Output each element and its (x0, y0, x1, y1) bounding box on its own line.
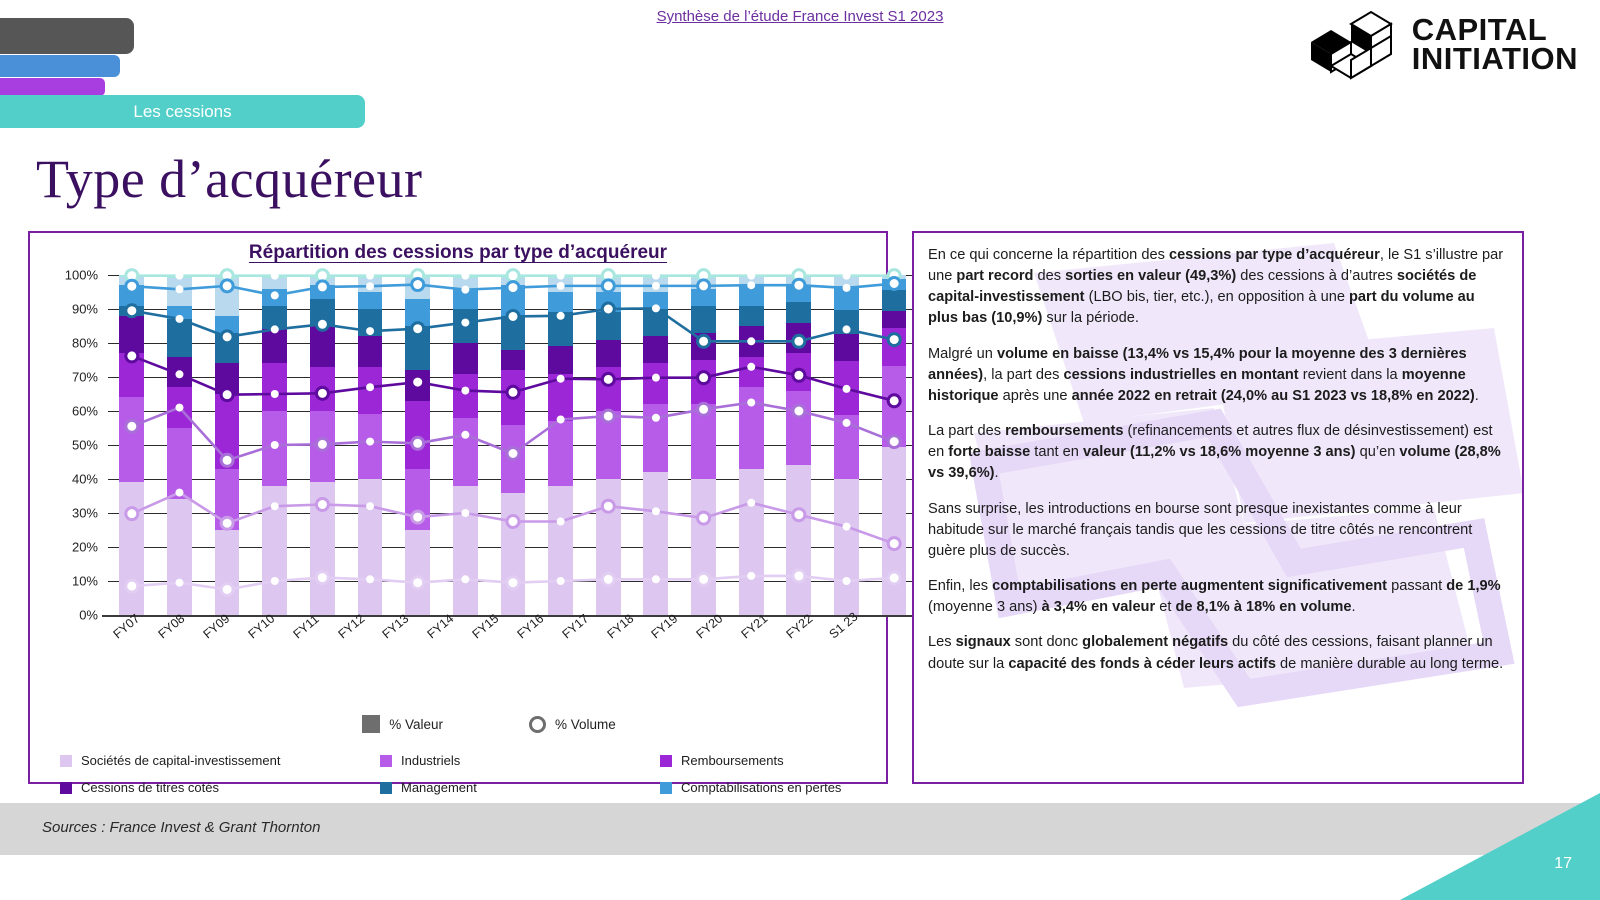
volume-marker (698, 280, 710, 292)
legend-label: Remboursements (681, 753, 784, 768)
body-text: Malgré un (928, 346, 997, 362)
volume-marker (888, 436, 900, 448)
legend-item[interactable]: Sociétés de capital-investissement (60, 753, 380, 768)
legend-swatch (60, 782, 72, 794)
commentary-paragraph: La part des remboursements (refinancemen… (928, 421, 1508, 484)
legend-swatch (380, 782, 392, 794)
volume-marker (698, 335, 710, 347)
emphasis-text: globalement négatifs (1082, 634, 1228, 650)
volume-marker (793, 509, 805, 521)
x-label-slot: FY16 (511, 623, 556, 643)
cube-logo-icon (1308, 8, 1398, 80)
volume-marker (557, 312, 565, 320)
y-axis-tick-label: 10% (72, 574, 98, 589)
volume-marker (652, 282, 660, 290)
volume-marker (461, 272, 469, 280)
volume-marker (126, 280, 138, 292)
body-text: sur la période. (1042, 310, 1139, 326)
x-label-slot: FY15 (467, 623, 512, 643)
x-label-slot: FY19 (646, 623, 691, 643)
volume-marker (461, 387, 469, 395)
body-text: . (1351, 599, 1355, 615)
volume-marker (888, 395, 900, 407)
emphasis-text: capacité des fonds à céder leurs actifs (1008, 656, 1276, 672)
volume-marker (271, 325, 279, 333)
volume-marker (747, 272, 755, 280)
body-text: . (1475, 388, 1479, 404)
legend-item[interactable]: Cessions de titres cotés (60, 780, 380, 795)
marker-legend: % Valeur% Volume (108, 715, 870, 733)
x-label-slot: FY20 (691, 623, 736, 643)
volume-marker (793, 570, 805, 582)
volume-marker (175, 370, 183, 378)
body-text: tant en (1030, 444, 1083, 460)
legend-swatch (660, 782, 672, 794)
body-text: sont donc (1011, 634, 1082, 650)
volume-marker (507, 282, 519, 294)
legend-label: Management (401, 780, 477, 795)
x-label-slot: FY08 (153, 623, 198, 643)
volume-marker (271, 390, 279, 398)
emphasis-text: signaux (956, 634, 1011, 650)
body-text: après une (999, 388, 1072, 404)
volume-marker (602, 280, 614, 292)
volume-marker (271, 291, 279, 299)
volume-marker (271, 441, 279, 449)
volume-marker (271, 502, 279, 510)
y-axis-tick-label: 50% (72, 438, 98, 453)
body-text: . (995, 465, 999, 481)
volume-marker (602, 410, 614, 422)
volume-circle-icon (529, 716, 546, 733)
emphasis-text: à 3,4% en valeur (1042, 599, 1156, 615)
volume-marker (843, 419, 851, 427)
emphasis-text: cessions industrielles en montant (1063, 367, 1298, 383)
emphasis-text: part record (956, 268, 1033, 284)
section-tag-banner: Les cessions (0, 95, 365, 128)
volume-marker (366, 438, 374, 446)
volume-marker (793, 279, 805, 291)
volume-marker (126, 508, 138, 520)
y-axis-tick-label: 80% (72, 336, 98, 351)
volume-marker (316, 499, 328, 511)
volume-marker (126, 350, 138, 362)
commentary-panel: En ce qui concerne la répartition des ce… (912, 231, 1524, 784)
volume-marker (557, 577, 565, 585)
y-axis-tick-label: 20% (72, 540, 98, 555)
volume-marker (602, 303, 614, 315)
deco-bar-purple (0, 78, 105, 96)
emphasis-text: remboursements (1005, 423, 1123, 439)
value-square-icon (362, 715, 380, 733)
volume-marker (843, 272, 851, 280)
volume-marker (507, 516, 519, 528)
x-label-slot: FY10 (242, 623, 287, 643)
y-axis-tick-label: 70% (72, 370, 98, 385)
emphasis-text: valeur (11,2% vs 18,6% moyenne 3 ans) (1083, 444, 1356, 460)
body-text: passant (1387, 578, 1446, 594)
volume-marker (175, 404, 183, 412)
volume-marker (843, 325, 851, 333)
body-text: En ce qui concerne la répartition des (928, 247, 1169, 263)
legend-label: Industriels (401, 753, 460, 768)
chart-title: Répartition des cessions par type d’acqu… (30, 242, 886, 264)
body-text: des cessions à d’autres (1236, 268, 1397, 284)
body-text: , la part des (983, 367, 1063, 383)
volume-marker (747, 363, 755, 371)
emphasis-text: forte baisse (948, 444, 1030, 460)
volume-marker (175, 315, 183, 323)
volume-marker (461, 575, 469, 583)
x-label-slot: FY14 (422, 623, 467, 643)
volume-marker (602, 500, 614, 512)
volume-marker (175, 579, 183, 587)
legend-label: Comptabilisations en pertes (681, 780, 841, 795)
commentary-paragraph: En ce qui concerne la répartition des ce… (928, 245, 1508, 330)
marker-legend-label: % Volume (555, 717, 616, 732)
volume-marker (461, 319, 469, 327)
volume-marker (412, 279, 424, 291)
commentary-paragraph: Malgré un volume en baisse (13,4% vs 15,… (928, 344, 1508, 407)
volume-marker (843, 385, 851, 393)
volume-marker (126, 420, 138, 432)
volume-marker (652, 272, 660, 280)
volume-marker (271, 577, 279, 585)
legend-item[interactable]: Industriels (380, 753, 660, 768)
volume-marker (652, 414, 660, 422)
volume-marker (316, 438, 328, 450)
volume-marker (557, 272, 565, 280)
volume-marker (175, 285, 183, 293)
x-label-slot: S1 23 (825, 623, 870, 643)
x-label-slot: FY18 (601, 623, 646, 643)
volume-marker (843, 284, 851, 292)
volume-marker (747, 399, 755, 407)
volume-marker (747, 337, 755, 345)
x-label-slot: FY09 (198, 623, 243, 643)
marker-legend-label: % Valeur (389, 717, 443, 732)
commentary-text: En ce qui concerne la répartition des ce… (914, 233, 1522, 675)
volume-marker (652, 304, 660, 312)
body-text: et (1155, 599, 1175, 615)
volume-marker (507, 310, 519, 322)
emphasis-text: sorties en valeur (49,3%) (1065, 268, 1236, 284)
body-text: revient dans la (1299, 367, 1402, 383)
volume-marker (126, 305, 138, 317)
volume-marker (412, 323, 424, 335)
volume-marker (652, 575, 660, 583)
volume-marker (366, 383, 374, 391)
legend-item[interactable]: Management (380, 780, 660, 795)
volume-marker (366, 575, 374, 583)
volume-marker (221, 389, 233, 401)
volume-marker (843, 523, 851, 531)
volume-marker (126, 580, 138, 592)
volume-marker (793, 405, 805, 417)
volume-marker (461, 509, 469, 517)
volume-marker (698, 403, 710, 415)
legend-swatch (60, 755, 72, 767)
volume-marker (221, 584, 233, 596)
commentary-paragraph: Enfin, les comptabilisations en perte au… (928, 576, 1508, 618)
deco-bar-blue (0, 55, 120, 77)
y-axis-tick-label: 0% (79, 608, 98, 623)
volume-marker (271, 272, 279, 280)
volume-marker (412, 577, 424, 589)
volume-marker (366, 327, 374, 335)
emphasis-text: année 2022 en retrait (24,0% au S1 2023 … (1072, 388, 1475, 404)
legend-label: Sociétés de capital-investissement (81, 753, 280, 768)
emphasis-text: comptabilisations en perte augmentent si… (992, 578, 1387, 594)
volume-marker (461, 286, 469, 294)
body-text: Enfin, les (928, 578, 992, 594)
volume-marker (888, 278, 900, 290)
volume-marker (366, 282, 374, 290)
body-text: (LBO bis, tier, etc.), en opposition à u… (1085, 289, 1349, 305)
sources-label: Sources : France Invest & Grant Thornton (42, 819, 320, 836)
body-text: qu’en (1356, 444, 1400, 460)
volume-marker (747, 572, 755, 580)
x-label-slot: FY21 (736, 623, 781, 643)
volume-marker (366, 272, 374, 280)
commentary-paragraph: Sans surprise, les introductions en bour… (928, 499, 1508, 562)
volume-marker (793, 369, 805, 381)
y-axis-tick-label: 90% (72, 302, 98, 317)
page-title: Type d’acquéreur (36, 148, 423, 210)
volume-marker (366, 502, 374, 510)
emphasis-text: de 8,1% à 18% en volume (1175, 599, 1351, 615)
volume-marker (316, 387, 328, 399)
legend-label: Cessions de titres cotés (81, 780, 219, 795)
x-label-slot: FY12 (332, 623, 377, 643)
y-axis-tick-label: 100% (65, 268, 98, 283)
volume-marker (507, 386, 519, 398)
commentary-paragraph: Les signaux sont donc globalement négati… (928, 632, 1508, 674)
volume-marker (747, 499, 755, 507)
volume-marker (316, 572, 328, 584)
body-text: des (1033, 268, 1065, 284)
y-axis-tick-label: 40% (72, 472, 98, 487)
volume-marker (316, 318, 328, 330)
volume-marker (412, 437, 424, 449)
volume-marker (602, 373, 614, 385)
emphasis-text: de 1,9% (1446, 578, 1500, 594)
volume-marker (557, 416, 565, 424)
volume-lines-group (108, 275, 918, 615)
volume-marker (221, 517, 233, 529)
volume-marker (793, 335, 805, 347)
emphasis-text: cessions par type d’acquéreur (1169, 247, 1380, 263)
volume-marker (507, 270, 519, 282)
volume-marker (602, 573, 614, 585)
body-text: de manière durable au long terme. (1276, 656, 1503, 672)
volume-marker (888, 572, 900, 584)
volume-marker (698, 372, 710, 384)
volume-marker (888, 538, 900, 550)
volume-marker (557, 518, 565, 526)
volume-marker (412, 376, 424, 388)
plot-area: 0%10%20%30%40%50%60%70%80%90%100% (108, 275, 918, 615)
volume-marker (316, 281, 328, 293)
x-label-slot: FY13 (377, 623, 422, 643)
volume-marker (698, 512, 710, 524)
volume-marker (652, 374, 660, 382)
marker-legend-item[interactable]: % Valeur (362, 715, 443, 733)
body-text: La part des (928, 423, 1005, 439)
volume-marker (221, 454, 233, 466)
logo-line-1: CAPITAL (1412, 15, 1578, 44)
marker-legend-item[interactable]: % Volume (529, 716, 616, 733)
logo-line-2: INITIATION (1412, 44, 1578, 73)
x-label-slot: FY17 (556, 623, 601, 643)
legend-swatch (660, 755, 672, 767)
chart-panel: Répartition des cessions par type d’acqu… (28, 231, 888, 784)
volume-marker (652, 507, 660, 515)
x-label-slot: FY22 (780, 623, 825, 643)
volume-marker (221, 331, 233, 343)
volume-marker (175, 272, 183, 280)
volume-marker (557, 282, 565, 290)
x-label-slot: FY07 (108, 623, 153, 643)
volume-marker (507, 577, 519, 589)
volume-marker (747, 281, 755, 289)
volume-marker (843, 577, 851, 585)
legend-item[interactable]: Comptabilisations en pertes (660, 780, 900, 795)
body-text: Les (928, 634, 956, 650)
volume-marker (888, 334, 900, 346)
volume-marker (412, 511, 424, 523)
x-label-slot: FY11 (287, 623, 332, 643)
volume-marker (461, 431, 469, 439)
x-axis-labels: FY07FY08FY09FY10FY11FY12FY13FY14FY15FY16… (108, 623, 870, 643)
volume-marker (507, 448, 519, 460)
brand-logo: CAPITAL INITIATION (1308, 8, 1578, 80)
chart-plot: 0%10%20%30%40%50%60%70%80%90%100% FY07FY… (108, 275, 870, 845)
y-axis-tick-label: 60% (72, 404, 98, 419)
body-text: (moyenne 3 ans) (928, 599, 1042, 615)
section-tag-label: Les cessions (133, 102, 231, 122)
volume-marker (698, 573, 710, 585)
volume-marker (221, 280, 233, 292)
volume-marker (175, 489, 183, 497)
y-axis-tick-label: 30% (72, 506, 98, 521)
page-number: 17 (1554, 855, 1572, 873)
volume-marker (557, 375, 565, 383)
legend-swatch (380, 755, 392, 767)
body-text: Sans surprise, les introductions en bour… (928, 501, 1472, 559)
legend-item[interactable]: Remboursements (660, 753, 900, 768)
